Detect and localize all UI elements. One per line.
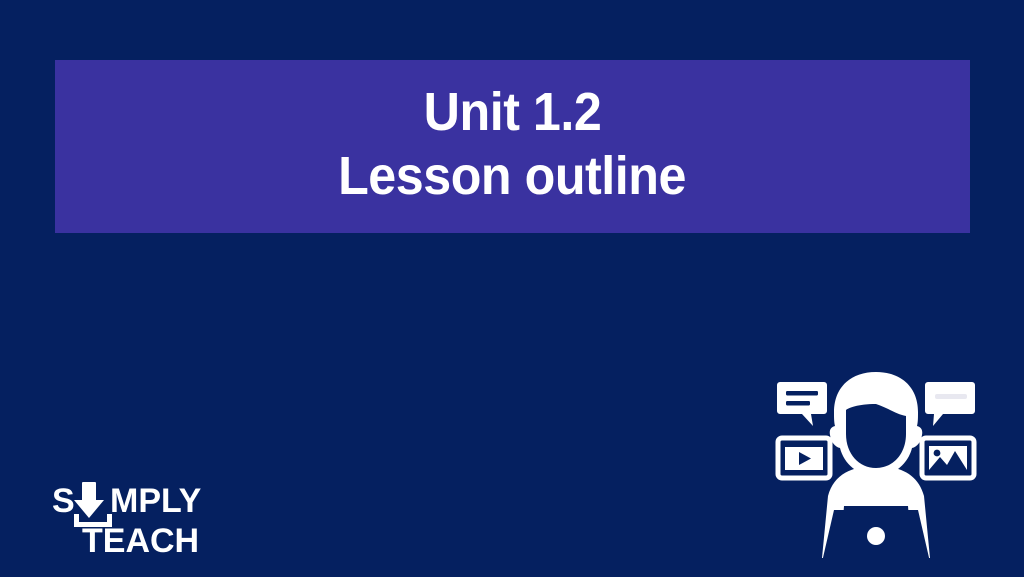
logo-letters-mply: MPLY (110, 482, 202, 520)
person-at-laptop (822, 372, 930, 562)
speech-bubble-icon (925, 382, 975, 426)
e-learning-person-illustration (768, 358, 984, 570)
page-title-line-1: Unit 1.2 (424, 81, 602, 145)
logo-word-teach: TEACH (82, 522, 199, 558)
simply-teach-logo: S MPLY TEACH (50, 478, 230, 558)
logo-letter-s: S (52, 482, 75, 520)
download-arrow-icon (74, 482, 112, 527)
e-learning-illustration-graphic (768, 358, 984, 570)
slide-canvas: Unit 1.2 Lesson outline S MPLY TEACH (0, 0, 1024, 577)
page-title-line-2: Lesson outline (339, 145, 687, 209)
simply-teach-logo-graphic: S MPLY TEACH (50, 478, 230, 558)
title-banner: Unit 1.2 Lesson outline (55, 60, 970, 233)
image-photo-icon (922, 438, 974, 478)
laptop-logo-dot (867, 527, 885, 545)
video-player-icon (778, 438, 830, 478)
face (846, 404, 906, 468)
chat-bubble-icon (777, 382, 827, 426)
